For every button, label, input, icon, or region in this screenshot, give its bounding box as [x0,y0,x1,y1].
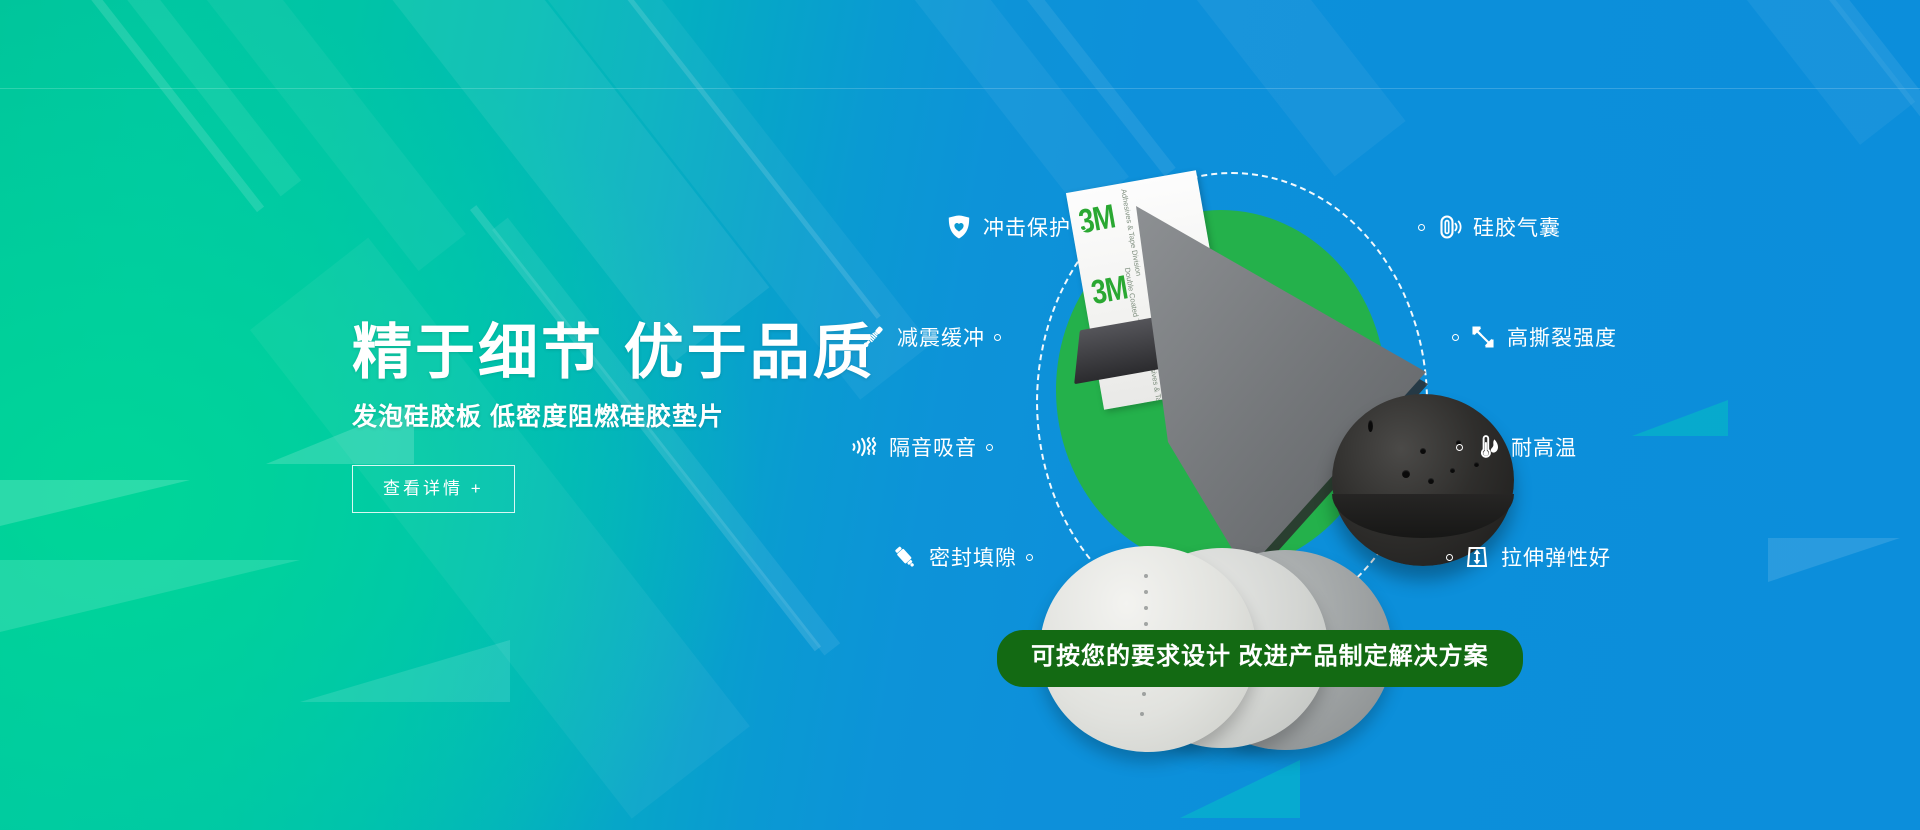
custom-solution-banner[interactable]: 可按您的要求设计 改进产品制定解决方案 [997,630,1523,687]
page-title: 精于细节 优于品质 [352,322,912,383]
feature-label: 拉伸弹性好 [1501,542,1611,572]
feature-silicone-airbag[interactable]: 硅胶气囊 [1418,212,1561,242]
tape-caption: Adhesives & Tape Division [1119,188,1143,276]
bullet-dot [1080,224,1087,231]
feature-label: 密封填隙 [929,542,1017,572]
feature-high-temperature-resistance[interactable]: 耐高温 [1456,432,1577,462]
airbag-icon [1434,212,1464,242]
feature-label: 硅胶气囊 [1473,212,1561,242]
tear-arrows-icon [1468,322,1498,352]
hero-copy: 精于细节 优于品质 发泡硅胶板 低密度阻燃硅胶垫片 查看详情 + [352,322,912,513]
stretch-arrow-icon [1462,542,1492,572]
bullet-dot [1418,224,1425,231]
feature-label: 隔音吸音 [889,432,977,462]
bullet-dot [994,334,1001,341]
shock-absorber-icon [858,322,888,352]
black-foam-disc [1332,394,1514,566]
feature-tensile-elasticity[interactable]: 拉伸弹性好 [1446,542,1611,572]
bullet-dot [1452,334,1459,341]
bullet-dot [1446,554,1453,561]
sound-wave-icon [850,432,880,462]
thermometer-flame-icon [1472,432,1502,462]
feature-high-tear-strength[interactable]: 高撕裂强度 [1452,322,1617,352]
feature-sound-insulation[interactable]: 隔音吸音 [850,432,993,462]
bullet-dot [986,444,993,451]
bullet-dot [1026,554,1033,561]
shield-heart-icon [944,212,974,242]
caulking-gun-icon [890,542,920,572]
feature-label: 冲击保护 [983,212,1071,242]
feature-impact-protection[interactable]: 冲击保护 [944,212,1087,242]
feature-label: 耐高温 [1511,432,1577,462]
feature-label: 高撕裂强度 [1507,322,1617,352]
hero-banner: 精于细节 优于品质 发泡硅胶板 低密度阻燃硅胶垫片 查看详情 + 3M 3M 3… [0,0,1920,830]
header-divider-line [0,88,1920,89]
product-feature-stage: 3M 3M 3M Doub Adhesives & Tape Division … [880,150,1780,710]
page-subtitle: 发泡硅胶板 低密度阻燃硅胶垫片 [352,397,912,433]
bullet-dot [1456,444,1463,451]
feature-shock-absorption[interactable]: 减震缓冲 [858,322,1001,352]
view-details-button[interactable]: 查看详情 + [352,465,515,513]
feature-gap-sealing[interactable]: 密封填隙 [890,542,1033,572]
feature-label: 减震缓冲 [897,322,985,352]
